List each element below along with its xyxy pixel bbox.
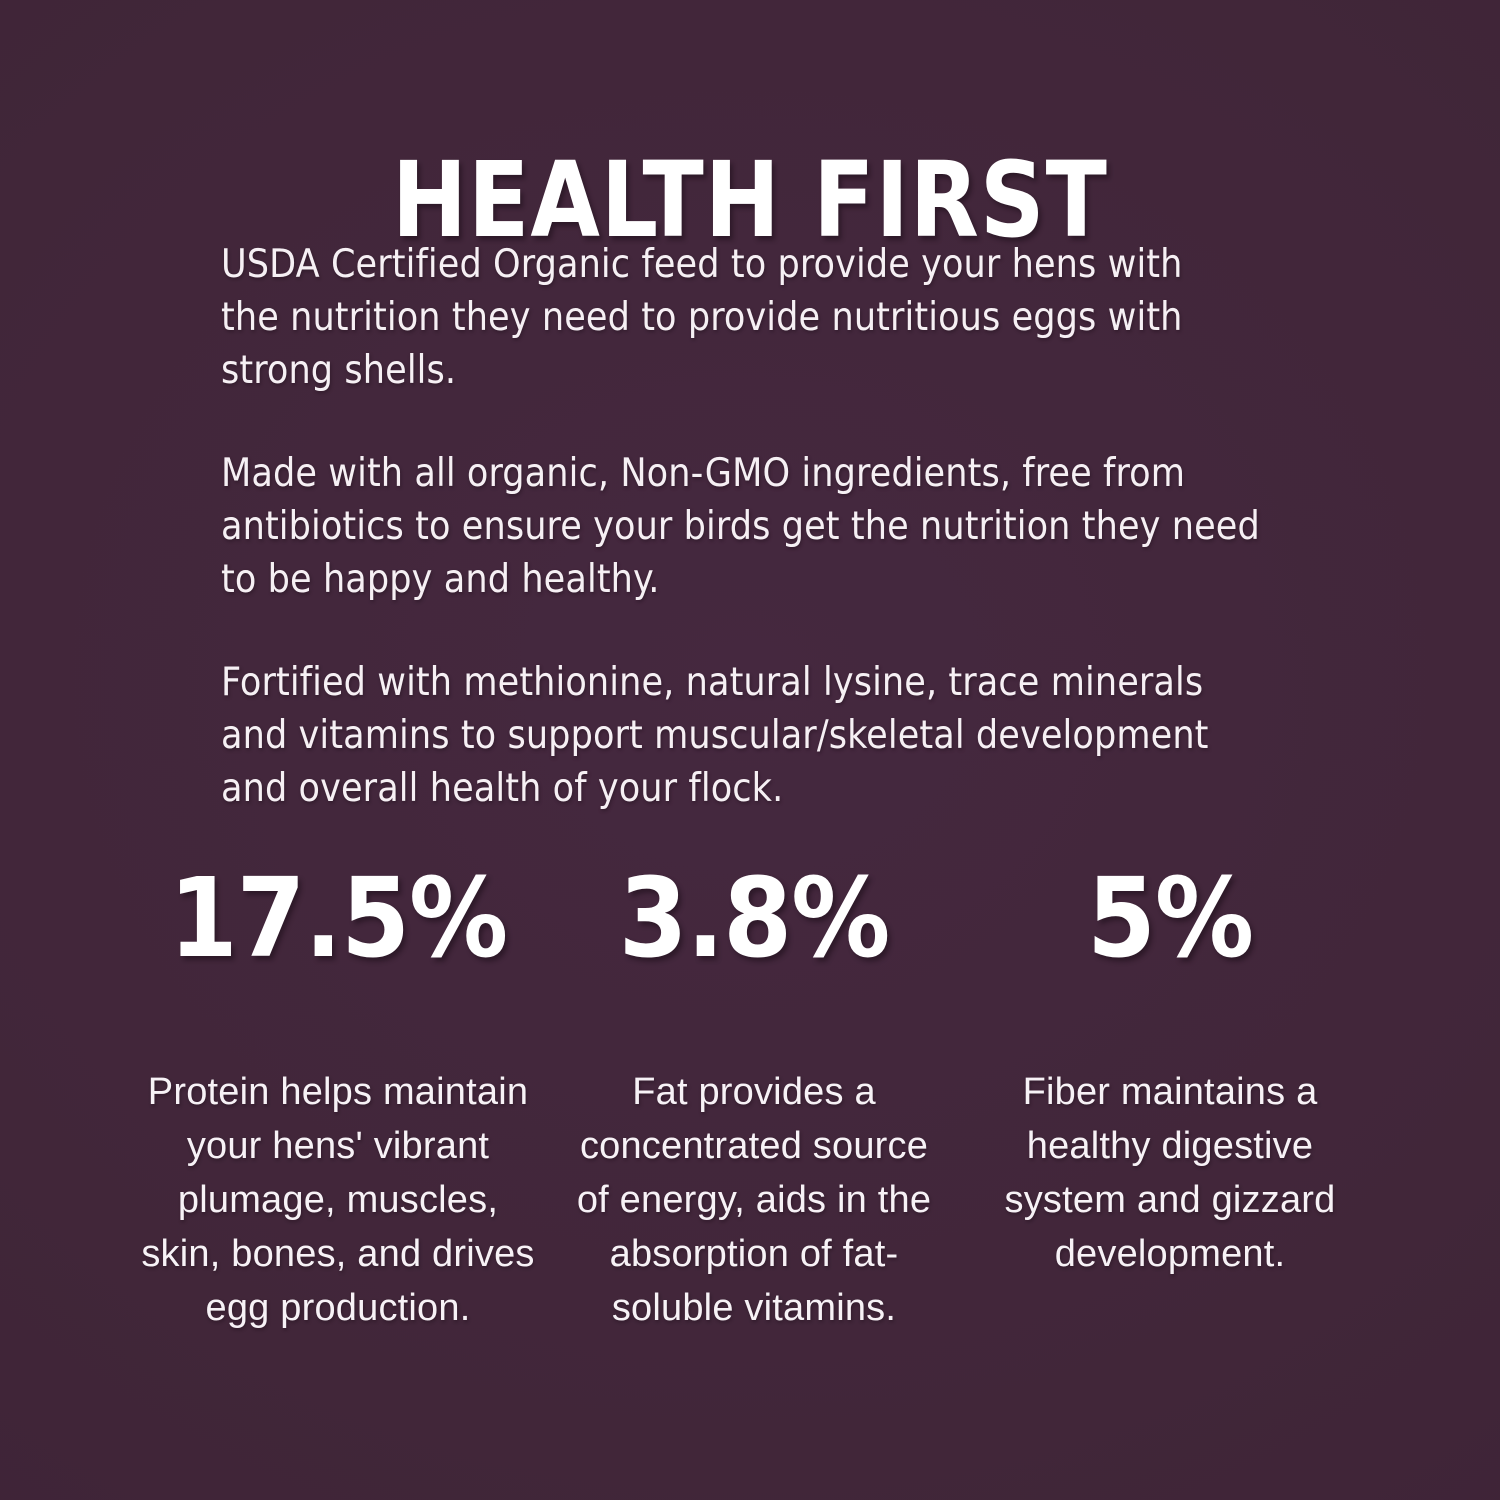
body-paragraph-3: Fortified with methionine, natural lysin… <box>221 656 1276 815</box>
stat-description-text-fat: Fat provides a concentrated source of en… <box>574 1065 934 1335</box>
stat-description-text-fiber: Fiber maintains a healthy digestive syst… <box>970 1065 1370 1281</box>
page-title: HEALTH FIRST <box>392 148 1108 252</box>
health-first-poster: HEALTH FIRST USDA Certified Organic feed… <box>0 0 1500 1500</box>
stat-value-fat: 3.8% <box>546 862 962 974</box>
nutrition-stats-row: 17.5% 3.8% 5% <box>130 862 1380 974</box>
stat-value-fiber: 5% <box>962 862 1378 974</box>
body-paragraph-2: Made with all organic, Non-GMO ingredien… <box>221 447 1296 606</box>
stat-description-text-protein: Protein helps maintain your hens' vibran… <box>138 1065 538 1335</box>
stat-description-protein: Protein helps maintain your hens' vibran… <box>130 1065 546 1335</box>
stat-value-protein: 17.5% <box>130 862 546 974</box>
stat-description-fat: Fat provides a concentrated source of en… <box>546 1065 962 1335</box>
stat-description-fiber: Fiber maintains a healthy digestive syst… <box>962 1065 1378 1281</box>
body-copy-block: USDA Certified Organic feed to provide y… <box>221 238 1321 815</box>
stat-fat: 3.8% <box>546 862 962 974</box>
nutrition-descriptions-row: Protein helps maintain your hens' vibran… <box>130 1065 1380 1335</box>
body-paragraph-1: USDA Certified Organic feed to provide y… <box>221 238 1221 397</box>
stat-protein: 17.5% <box>130 862 546 974</box>
stat-fiber: 5% <box>962 862 1378 974</box>
